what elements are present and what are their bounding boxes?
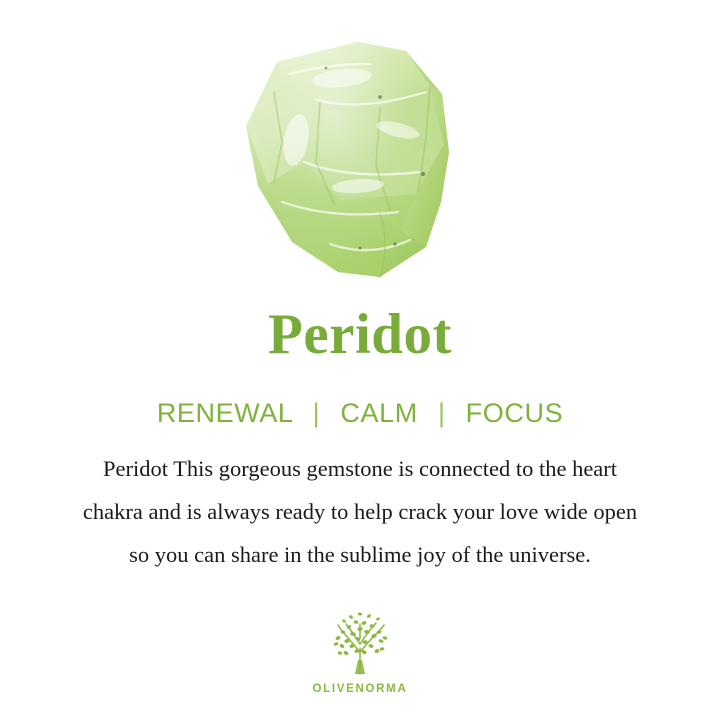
description-line: Peridot This gorgeous gemstone is connec…: [18, 447, 702, 490]
description-line: chakra and is always ready to help crack…: [18, 490, 702, 533]
peridot-raw-crystal-icon: [230, 34, 490, 296]
tagline-separator: |: [426, 398, 458, 428]
tagline: RENEWAL | CALM | FOCUS: [0, 398, 720, 428]
brand-name: OLIVENORMA: [0, 683, 720, 695]
gemstone-image: [0, 34, 720, 296]
description-line: so you can share in the sublime joy of t…: [18, 533, 702, 576]
tagline-item-renewal: RENEWAL: [157, 398, 293, 428]
tagline-item-focus: FOCUS: [466, 398, 564, 428]
peridot-info-card: Peridot RENEWAL | CALM | FOCUS Peridot T…: [0, 0, 720, 720]
olive-tree-icon: [322, 608, 398, 680]
brand-logo: OLIVENORMA: [0, 608, 720, 695]
tagline-item-calm: CALM: [340, 398, 417, 428]
description: Peridot This gorgeous gemstone is connec…: [18, 447, 702, 576]
tagline-separator: |: [301, 398, 333, 428]
page-title: Peridot: [0, 303, 720, 367]
